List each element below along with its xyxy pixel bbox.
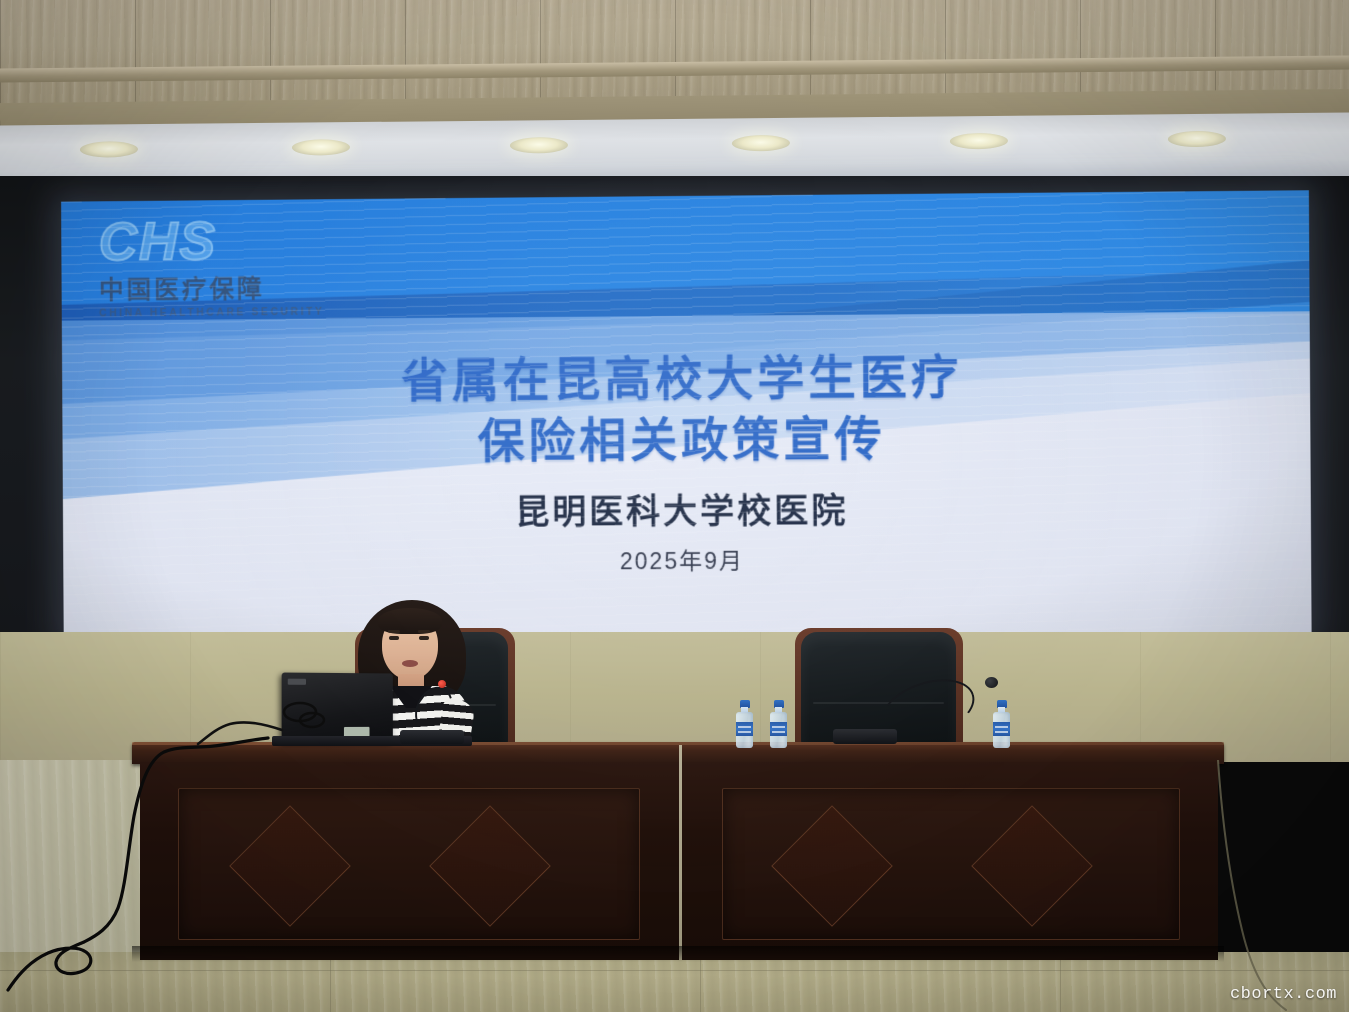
desk-ground-shadow xyxy=(132,946,1224,962)
ceiling-spotlight xyxy=(1168,131,1226,148)
ceiling-spotlight xyxy=(292,139,350,156)
bottle-label xyxy=(993,722,1010,736)
chs-logo: CHS 中国医疗保障 CHINA HEALTHCARE SECURITY xyxy=(99,213,396,320)
water-bottle[interactable] xyxy=(993,700,1010,748)
laptop-brand-logo-icon xyxy=(288,679,306,685)
presenter-eyebrow-right xyxy=(418,630,430,633)
bottle-label-line xyxy=(738,731,751,733)
chs-logo-mark: CHS xyxy=(99,213,396,269)
slide-title-line-1: 省属在昆高校大学生医疗 xyxy=(62,344,1310,413)
ceiling-spotlight xyxy=(950,133,1008,150)
bottle-label-line xyxy=(772,731,785,733)
presenter-eyebrow-left xyxy=(388,630,400,633)
presenter-mouth xyxy=(402,660,418,667)
bottle-label-line xyxy=(995,726,1008,728)
watermark: cbortx.com xyxy=(1230,985,1337,1004)
photo-scene: CHS 中国医疗保障 CHINA HEALTHCARE SECURITY 省属在… xyxy=(0,0,1349,1012)
chs-logo-name-cn: 中国医疗保障 xyxy=(99,268,396,306)
desk-diamond-motif xyxy=(429,805,551,927)
presenter-eye-left xyxy=(389,636,399,640)
ceiling-spotlight xyxy=(80,141,138,158)
desk-diamond-motif xyxy=(229,805,351,927)
bottle-label-line xyxy=(738,726,751,728)
projection-screen: CHS 中国医疗保障 CHINA HEALTHCARE SECURITY 省属在… xyxy=(61,190,1312,642)
floor-seam xyxy=(0,970,1349,971)
slide-title: 省属在昆高校大学生医疗 保险相关政策宣传 xyxy=(62,344,1311,474)
water-bottle[interactable] xyxy=(736,700,753,748)
guest-microphone-head xyxy=(985,677,998,688)
slide-date: 2025年9月 xyxy=(63,539,1311,578)
bottle-label-line xyxy=(772,726,785,728)
slide-surface: CHS 中国医疗保障 CHINA HEALTHCARE SECURITY 省属在… xyxy=(61,190,1312,642)
ceiling-spotlight xyxy=(732,135,790,152)
ceiling-spotlight xyxy=(510,137,568,154)
desk-section-seam xyxy=(679,745,682,960)
chs-logo-name-en: CHINA HEALTHCARE SECURITY xyxy=(99,305,395,319)
water-bottle[interactable] xyxy=(770,700,787,748)
presenter-eye-right xyxy=(419,636,429,640)
slide-organization: 昆明医科大学校医院 xyxy=(63,481,1311,536)
slide-title-line-2: 保险相关政策宣传 xyxy=(62,405,1310,473)
desk-panel-left xyxy=(178,788,640,940)
desk-diamond-motif xyxy=(771,805,893,927)
bottle-label xyxy=(770,722,787,736)
laptop[interactable] xyxy=(282,673,393,744)
bottle-label-line xyxy=(995,731,1008,733)
desk-panel-right xyxy=(722,788,1180,940)
speaker-microphone-indicator-icon xyxy=(438,680,446,688)
desk-diamond-motif xyxy=(971,805,1093,927)
bottle-label xyxy=(736,722,753,736)
